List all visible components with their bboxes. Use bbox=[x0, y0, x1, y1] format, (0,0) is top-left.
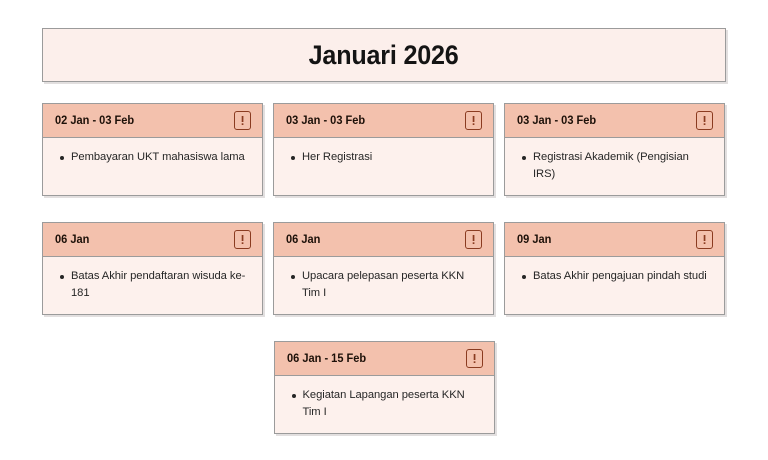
exclamation-mark-icon[interactable] bbox=[696, 111, 713, 130]
event-item-list: Registrasi Akademik (Pengisian IRS) bbox=[517, 149, 712, 183]
exclamation-mark-icon[interactable] bbox=[234, 111, 251, 130]
event-card[interactable]: 09 Jan Batas Akhir pengajuan pindah stud… bbox=[504, 222, 725, 315]
event-item-list: Batas Akhir pengajuan pindah studi bbox=[517, 268, 712, 285]
event-date-range: 02 Jan - 03 Feb bbox=[55, 115, 134, 127]
exclamation-mark-icon[interactable] bbox=[234, 230, 251, 249]
event-item-list: Kegiatan Lapangan peserta KKN Tim I bbox=[287, 387, 482, 421]
page-title: Januari 2026 bbox=[309, 40, 459, 71]
exclamation-mark-icon[interactable] bbox=[465, 111, 482, 130]
event-card-body: Batas Akhir pendaftaran wisuda ke-181 bbox=[43, 257, 262, 314]
event-card-body: Registrasi Akademik (Pengisian IRS) bbox=[505, 138, 724, 195]
event-card[interactable]: 06 Jan - 15 Feb Kegiatan Lapangan pesert… bbox=[274, 341, 495, 434]
exclamation-mark-icon[interactable] bbox=[466, 349, 483, 368]
event-card-body: Batas Akhir pengajuan pindah studi bbox=[505, 257, 724, 312]
card-row: 06 Jan - 15 Feb Kegiatan Lapangan pesert… bbox=[42, 341, 726, 434]
month-title-banner: Januari 2026 bbox=[42, 28, 726, 82]
list-item: Batas Akhir pendaftaran wisuda ke-181 bbox=[71, 268, 250, 302]
event-date-range: 06 Jan - 15 Feb bbox=[287, 353, 366, 365]
event-item-list: Upacara pelepasan peserta KKN Tim I bbox=[286, 268, 481, 302]
card-row: 02 Jan - 03 Feb Pembayaran UKT mahasiswa… bbox=[42, 103, 726, 196]
event-card-header: 02 Jan - 03 Feb bbox=[43, 104, 262, 138]
event-card[interactable]: 03 Jan - 03 Feb Her Registrasi bbox=[273, 103, 494, 196]
event-card-body: Upacara pelepasan peserta KKN Tim I bbox=[274, 257, 493, 314]
event-item-list: Batas Akhir pendaftaran wisuda ke-181 bbox=[55, 268, 250, 302]
event-card-header: 06 Jan bbox=[43, 223, 262, 257]
event-card-header: 09 Jan bbox=[505, 223, 724, 257]
event-card-header: 03 Jan - 03 Feb bbox=[505, 104, 724, 138]
event-card[interactable]: 06 Jan Upacara pelepasan peserta KKN Tim… bbox=[273, 222, 494, 315]
event-date-range: 03 Jan - 03 Feb bbox=[517, 115, 596, 127]
event-card[interactable]: 02 Jan - 03 Feb Pembayaran UKT mahasiswa… bbox=[42, 103, 263, 196]
list-item: Upacara pelepasan peserta KKN Tim I bbox=[302, 268, 481, 302]
exclamation-mark-icon[interactable] bbox=[465, 230, 482, 249]
event-item-list: Pembayaran UKT mahasiswa lama bbox=[55, 149, 250, 166]
event-card-body: Kegiatan Lapangan peserta KKN Tim I bbox=[275, 376, 494, 433]
card-row: 06 Jan Batas Akhir pendaftaran wisuda ke… bbox=[42, 222, 726, 315]
event-date-range: 06 Jan bbox=[286, 234, 320, 246]
list-item: Registrasi Akademik (Pengisian IRS) bbox=[533, 149, 712, 183]
exclamation-mark-icon[interactable] bbox=[696, 230, 713, 249]
list-item: Pembayaran UKT mahasiswa lama bbox=[71, 149, 250, 166]
event-date-range: 03 Jan - 03 Feb bbox=[286, 115, 365, 127]
list-item: Her Registrasi bbox=[302, 149, 481, 166]
event-card-body: Her Registrasi bbox=[274, 138, 493, 193]
event-card[interactable]: 06 Jan Batas Akhir pendaftaran wisuda ke… bbox=[42, 222, 263, 315]
event-card-header: 03 Jan - 03 Feb bbox=[274, 104, 493, 138]
event-card[interactable]: 03 Jan - 03 Feb Registrasi Akademik (Pen… bbox=[504, 103, 725, 196]
list-item: Kegiatan Lapangan peserta KKN Tim I bbox=[303, 387, 482, 421]
list-item: Batas Akhir pengajuan pindah studi bbox=[533, 268, 712, 285]
event-card-body: Pembayaran UKT mahasiswa lama bbox=[43, 138, 262, 193]
event-date-range: 09 Jan bbox=[517, 234, 551, 246]
event-card-header: 06 Jan - 15 Feb bbox=[275, 342, 494, 376]
event-date-range: 06 Jan bbox=[55, 234, 89, 246]
event-item-list: Her Registrasi bbox=[286, 149, 481, 166]
event-card-header: 06 Jan bbox=[274, 223, 493, 257]
academic-calendar: Januari 2026 02 Jan - 03 Feb Pembayaran … bbox=[42, 28, 726, 460]
